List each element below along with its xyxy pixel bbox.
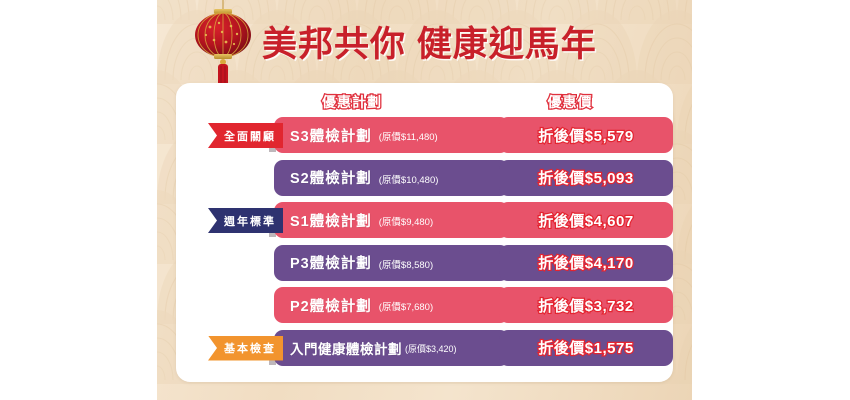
discounted-price: 折後價$4,170: [538, 252, 633, 273]
discounted-price: 折後價$4,607: [538, 210, 633, 231]
table-row[interactable]: 基本檢查 入門健康體檢計劃 (原價$3,420) 折後價$1,575: [176, 328, 673, 371]
plan-name: P3體檢計劃: [290, 252, 372, 273]
plan-name: S2體檢計劃: [290, 167, 372, 188]
discounted-price: 折後價$5,093: [538, 167, 633, 188]
offer-table: 全面關顧 S3體檢計劃 (原價$11,480) 折後價$5,579 S2體檢計劃…: [176, 115, 673, 370]
price-pill[interactable]: 折後價$3,732: [499, 287, 673, 323]
category-tag-comprehensive: 全面關顧: [208, 123, 283, 148]
plan-pill[interactable]: S3體檢計劃 (原價$11,480): [274, 117, 509, 153]
column-header-plan: 優惠計劃: [262, 92, 442, 112]
plan-pill[interactable]: 入門健康體檢計劃 (原價$3,420): [274, 330, 509, 366]
table-row[interactable]: 全面關顧 S3體檢計劃 (原價$11,480) 折後價$5,579: [176, 115, 673, 158]
category-tag-annual: 週年標準: [208, 208, 283, 233]
price-pill[interactable]: 折後價$4,607: [499, 202, 673, 238]
discounted-price: 折後價$5,579: [538, 125, 633, 146]
plan-original-price: (原價$8,580): [379, 257, 433, 271]
plan-name: S3體檢計劃: [290, 125, 372, 146]
table-row[interactable]: S2體檢計劃 (原價$10,480) 折後價$5,093: [176, 158, 673, 201]
page-title: 美邦共你 健康迎馬年: [262, 22, 662, 70]
price-pill[interactable]: 折後價$5,093: [499, 160, 673, 196]
table-row[interactable]: P2體檢計劃 (原價$7,680) 折後價$3,732: [176, 285, 673, 328]
table-row[interactable]: P3體檢計劃 (原價$8,580) 折後價$4,170: [176, 243, 673, 286]
discounted-price: 折後價$3,732: [538, 295, 633, 316]
table-row[interactable]: 週年標準 S1體檢計劃 (原價$9,480) 折後價$4,607: [176, 200, 673, 243]
plan-original-price: (原價$7,680): [379, 299, 433, 313]
plan-pill[interactable]: S2體檢計劃 (原價$10,480): [274, 160, 509, 196]
price-pill[interactable]: 折後價$5,579: [499, 117, 673, 153]
promo-banner: 美邦共你 健康迎馬年 優惠計劃 優惠價 全面關顧 S3體檢計劃 (原價$11,4…: [0, 0, 850, 400]
discounted-price: 折後價$1,575: [538, 337, 633, 358]
plan-name: P2體檢計劃: [290, 295, 372, 316]
plan-original-price: (原價$3,420): [405, 342, 457, 355]
plan-original-price: (原價$11,480): [379, 129, 438, 143]
plan-name: S1體檢計劃: [290, 210, 372, 231]
plan-original-price: (原價$10,480): [379, 172, 439, 186]
plan-original-price: (原價$9,480): [379, 214, 433, 228]
price-pill[interactable]: 折後價$1,575: [499, 330, 673, 366]
column-header-price: 優惠價: [495, 92, 645, 112]
plan-pill[interactable]: P3體檢計劃 (原價$8,580): [274, 245, 509, 281]
category-tag-basic: 基本檢查: [208, 336, 283, 361]
price-pill[interactable]: 折後價$4,170: [499, 245, 673, 281]
plan-pill[interactable]: P2體檢計劃 (原價$7,680): [274, 287, 509, 323]
plan-pill[interactable]: S1體檢計劃 (原價$9,480): [274, 202, 509, 238]
plan-name: 入門健康體檢計劃: [290, 338, 402, 358]
